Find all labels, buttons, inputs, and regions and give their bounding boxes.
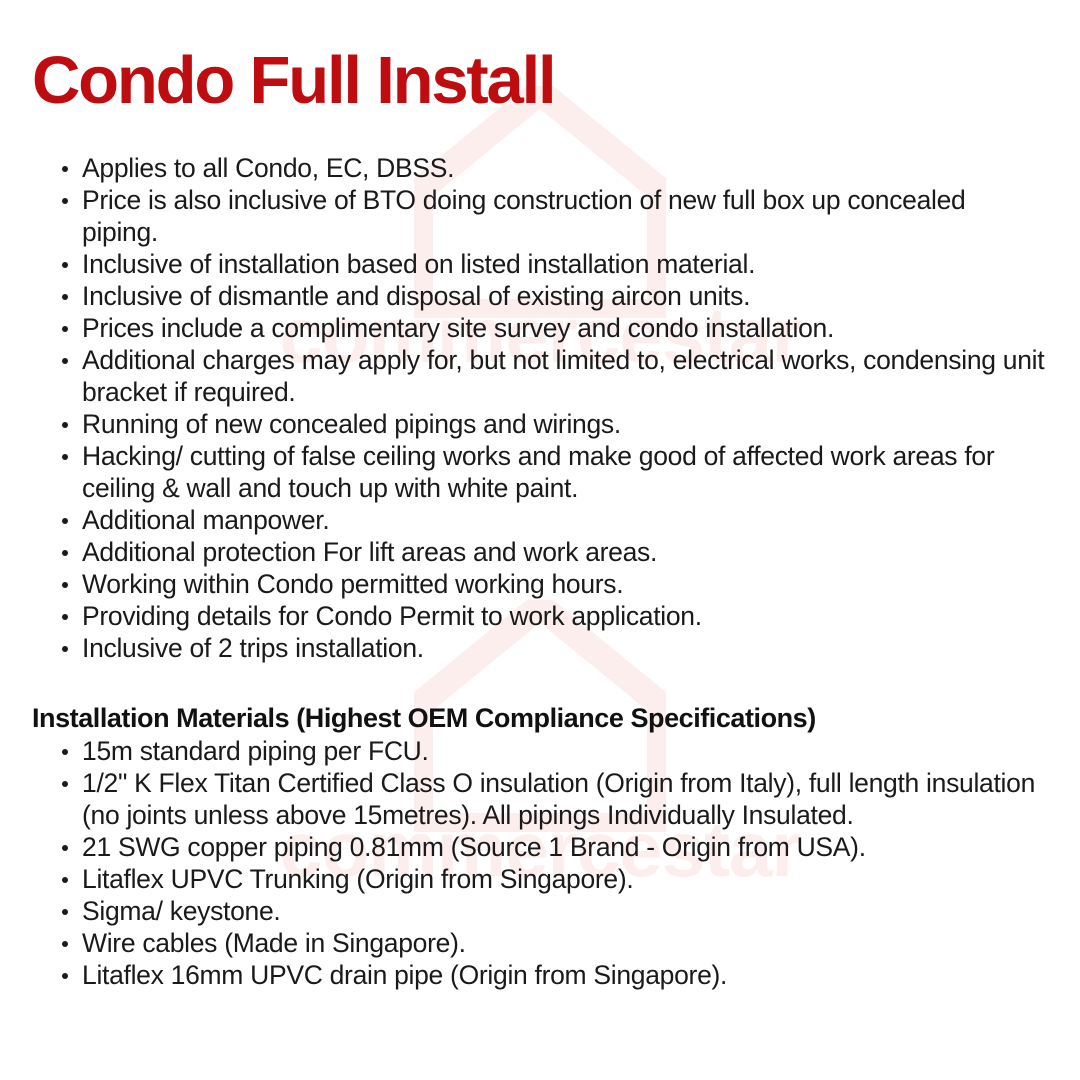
list-item: Price is also inclusive of BTO doing con… [32,184,1048,248]
list-item: Providing details for Condo Permit to wo… [32,600,1048,632]
list-item: 21 SWG copper piping 0.81mm (Source 1 Br… [32,831,1048,863]
list-item: Applies to all Condo, EC, DBSS. [32,152,1048,184]
list-item: Additional manpower. [32,504,1048,536]
list-item: Additional charges may apply for, but no… [32,344,1048,408]
document-content: Condo Full Install Applies to all Condo,… [0,0,1080,991]
list-item: 15m standard piping per FCU. [32,735,1048,767]
terms-list: Applies to all Condo, EC, DBSS. Price is… [32,152,1048,664]
list-item: Inclusive of 2 trips installation. [32,632,1048,664]
list-item: 1/2" K Flex Titan Certified Class O insu… [32,767,1048,831]
list-item: Running of new concealed pipings and wir… [32,408,1048,440]
materials-list: 15m standard piping per FCU. 1/2" K Flex… [32,735,1048,991]
list-item: Prices include a complimentary site surv… [32,312,1048,344]
list-item: Working within Condo permitted working h… [32,568,1048,600]
materials-heading: Installation Materials (Highest OEM Comp… [32,664,1048,734]
document-page: commercestar commercestar Condo Full Ins… [0,0,1080,1080]
list-item: Wire cables (Made in Singapore). [32,927,1048,959]
list-item: Inclusive of dismantle and disposal of e… [32,280,1048,312]
list-item: Litaflex 16mm UPVC drain pipe (Origin fr… [32,959,1048,991]
list-item: Hacking/ cutting of false ceiling works … [32,440,1048,504]
list-item: Sigma/ keystone. [32,895,1048,927]
list-item: Additional protection For lift areas and… [32,536,1048,568]
list-item: Inclusive of installation based on liste… [32,248,1048,280]
page-title: Condo Full Install [32,0,1048,114]
list-item: Litaflex UPVC Trunking (Origin from Sing… [32,863,1048,895]
